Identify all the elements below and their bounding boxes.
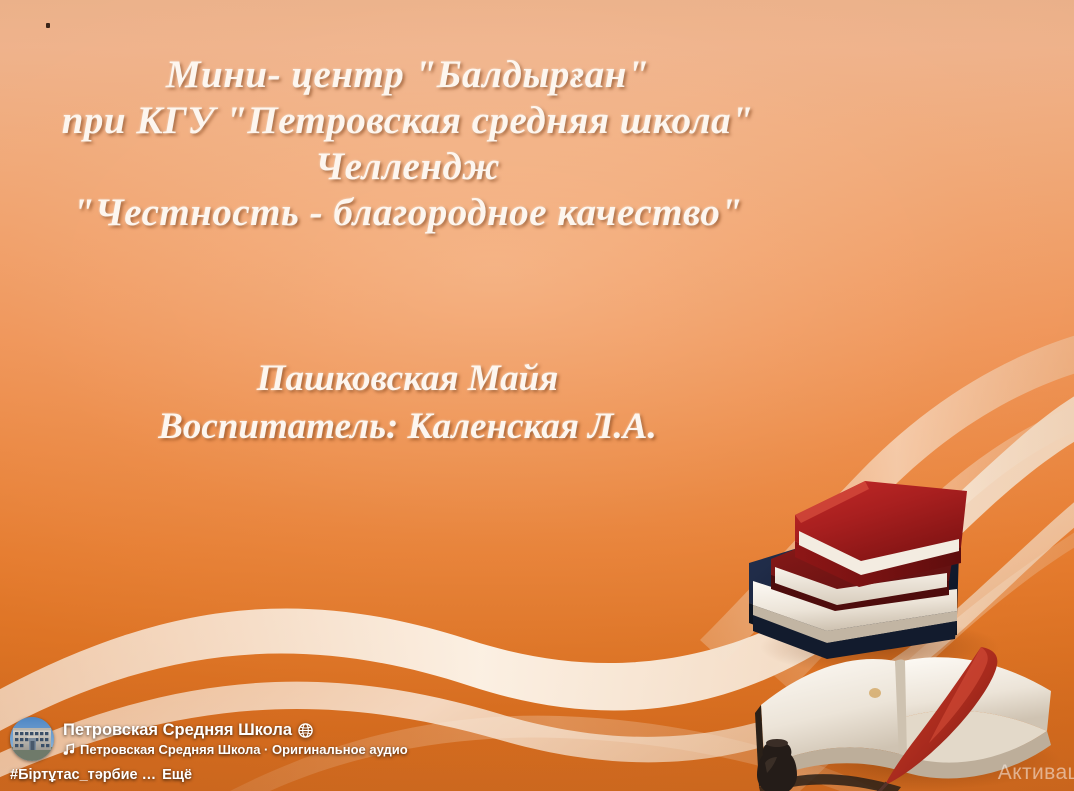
slide-title-line-1: Мини- центр "Балдырған" xyxy=(0,52,815,98)
slide-credit-participant: Пашковская Майя xyxy=(0,355,815,403)
slide-title-line-4: "Честность - благородное качество" xyxy=(0,190,815,236)
author-name[interactable]: Петровская Средняя Школа xyxy=(63,721,292,740)
music-note-icon xyxy=(63,743,75,756)
audio-row[interactable]: Петровская Средняя Школа · Оригинальное … xyxy=(63,742,408,757)
audio-attribution: Петровская Средняя Школа · Оригинальное … xyxy=(80,742,408,757)
caption-hashtag[interactable]: #Біртұтас_тәрбие … xyxy=(10,767,156,783)
stray-speck xyxy=(46,23,50,28)
post-author-row[interactable]: Петровская Средняя Школа xyxy=(0,717,1074,761)
author-name-row: Петровская Средняя Школа xyxy=(63,721,408,740)
caption-see-more-link[interactable]: Ещё xyxy=(162,767,192,783)
slide-title-block: Мини- центр "Балдырған" при КГУ "Петровс… xyxy=(0,52,815,236)
slide-credits-block: Пашковская Майя Воспитатель: Каленская Л… xyxy=(0,355,815,451)
school-building-photo-icon xyxy=(10,717,54,761)
slide-title-line-2: при КГУ "Петровская средняя школа" xyxy=(0,98,815,144)
slide-title-line-3: Челлендж xyxy=(0,144,815,190)
slide-credit-teacher: Воспитатель: Каленская Л.А. xyxy=(0,403,815,451)
globe-icon xyxy=(298,723,313,738)
video-post-screen: Мини- центр "Балдырған" при КГУ "Петровс… xyxy=(0,0,1074,791)
author-text-group: Петровская Средняя Школа xyxy=(63,721,408,757)
avatar[interactable] xyxy=(10,717,54,761)
caption-row: #Біртұтас_тәрбие … Ещё xyxy=(0,763,1074,783)
post-overlay: Петровская Средняя Школа xyxy=(0,717,1074,791)
